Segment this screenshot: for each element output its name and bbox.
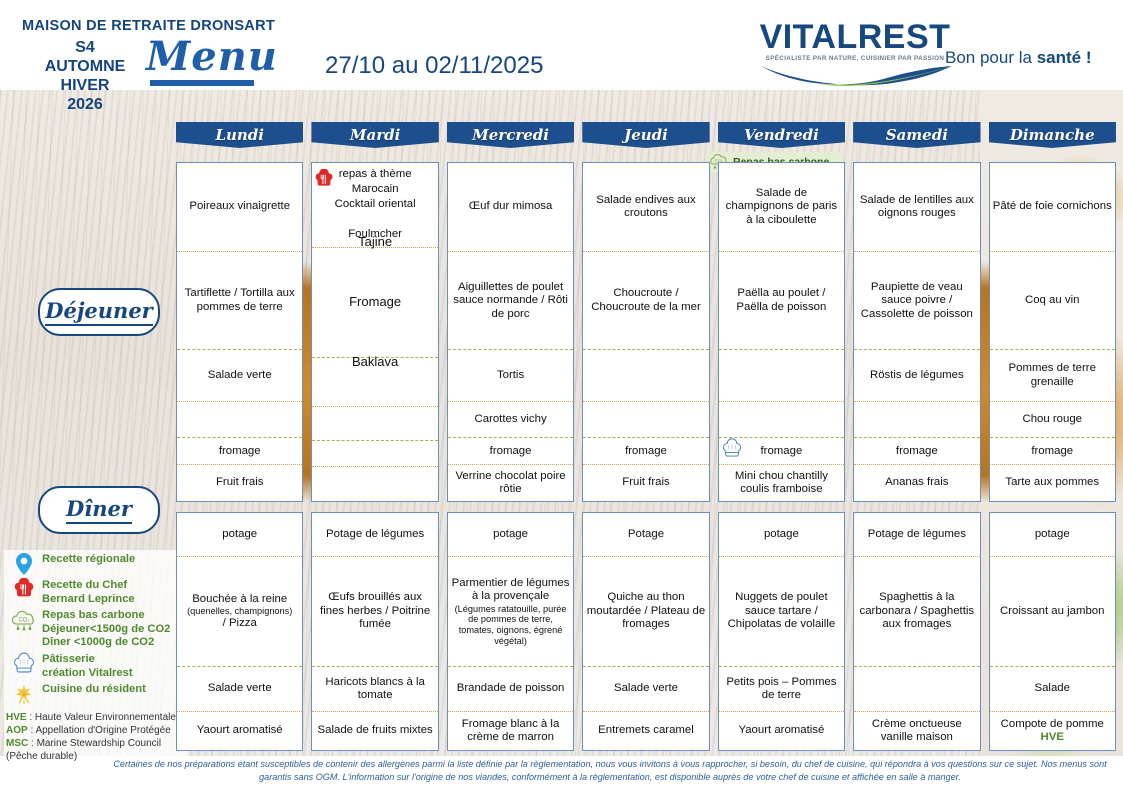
tagline-prefix: Bon pour la <box>945 48 1037 67</box>
menu-cell: Salade verte <box>177 667 302 712</box>
menu-cell: fromage <box>177 438 302 465</box>
chef-toque-red-icon <box>314 169 334 189</box>
menu-column-samedi: Potage de légumesSpaghettis à la carbona… <box>853 512 980 751</box>
menu-cell: Œuf dur mimosa <box>448 163 573 252</box>
chef-toque-red-icon <box>6 578 42 600</box>
season-winter: HIVER <box>20 76 150 95</box>
menu-page: MAISON DE RETRAITE DRONSART S4 AUTOMNE H… <box>0 0 1123 794</box>
chef-toque-red-icon <box>13 578 35 600</box>
menu-cell: Poireaux vinaigrette <box>177 163 302 252</box>
menu-cell: Verrine chocolat poire rôtie <box>448 465 573 501</box>
menu-cell: fromage <box>448 438 573 465</box>
menu-cell <box>854 402 979 438</box>
menu-cell <box>854 667 979 712</box>
sparkler-icon <box>12 682 36 706</box>
legend-item-label: Recette du ChefBernard Leprince <box>42 578 135 606</box>
dinner-block: potageBouchée à la reine(quenelles, cham… <box>176 512 1116 751</box>
menu-cell: Coq au vin <box>990 252 1115 350</box>
menu-column-mercredi: Œuf dur mimosaAiguillettes de poulet sau… <box>447 162 574 502</box>
menu-cell: potage <box>719 513 844 557</box>
menu-cell: Salade verte <box>177 350 302 402</box>
menu-cell: fromage <box>854 438 979 465</box>
menu-cell: Parmentier de légumes à la provençale(Lé… <box>448 557 573 667</box>
abbreviation-code: MSC <box>6 738 28 749</box>
menu-cell: Paëlla au poulet / Paëlla de poisson <box>719 252 844 350</box>
menu-cell: Tortis <box>448 350 573 402</box>
menu-cell: Tajine Fromage Baklava <box>312 248 437 358</box>
menu-cell: Tartiflette / Tortilla aux pommes de ter… <box>177 252 302 350</box>
location-pin-icon <box>6 552 42 576</box>
date-range: 27/10 au 02/11/2025 <box>325 52 543 80</box>
pastry-chef-hat-icon <box>721 438 743 464</box>
menu-column-lundi: Poireaux vinaigretteTartiflette / Tortil… <box>176 162 303 502</box>
menu-cell: Salade de champignons de paris à la cibo… <box>719 163 844 252</box>
menu-cell: Salade de fruits mixtes <box>312 712 437 750</box>
menu-cell <box>312 467 437 501</box>
tagline-strong: santé ! <box>1037 48 1092 67</box>
menu-cell: Brandade de poisson <box>448 667 573 712</box>
menu-cell: Quiche au thon moutardée / Plateau de fr… <box>583 557 708 667</box>
menu-cell: Carottes vichy <box>448 402 573 438</box>
menu-cell <box>312 358 437 407</box>
menu-cell: Crème onctueuse vanille maison <box>854 712 979 750</box>
pastry-chef-hat-icon <box>6 652 42 676</box>
pastry-chef-hat-icon <box>721 438 743 460</box>
menu-column-vendredi: Salade de champignons de paris à la cibo… <box>718 162 845 502</box>
vitalrest-logo: VITALREST SPÉCIALISTE PAR NATURE, CUISIN… <box>755 20 955 80</box>
menu-title-underline <box>150 80 254 86</box>
menu-cell: Fromage blanc à la crème de marron <box>448 712 573 750</box>
logo-wordmark: VITALREST <box>755 20 955 54</box>
menu-cell <box>312 441 437 467</box>
menu-cell: Pâté de foie cornichons <box>990 163 1115 252</box>
menu-column-lundi: potageBouchée à la reine(quenelles, cham… <box>176 512 303 751</box>
lunch-label-pill: Déjeuner <box>38 288 160 336</box>
location-pin-icon <box>14 552 34 576</box>
day-header-mardi[interactable]: Mardi <box>311 122 438 148</box>
menu-cell <box>583 350 708 402</box>
allergen-footer: Certaines de nos préparations étant susc… <box>100 758 1120 784</box>
legend-abbreviations: HVE : Haute Valeur EnvironnementaleAOP :… <box>6 711 186 763</box>
menu-cell: Entremets caramel <box>583 712 708 750</box>
menu-column-mercredi: potageParmentier de légumes à la provenç… <box>447 512 574 751</box>
menu-column-dimanche: Pâté de foie cornichonsCoq au vinPommes … <box>989 162 1116 502</box>
menu-cell: Paupiette de veau sauce poivre / Cassole… <box>854 252 979 350</box>
chef-toque-red-icon <box>314 169 334 193</box>
menu-cell: Potage de légumes <box>854 513 979 557</box>
menu-column-dimanche: potageCroissant au jambonSaladeCompote d… <box>989 512 1116 751</box>
legend-item-label: Cuisine du résident <box>42 682 146 697</box>
lunch-block: Poireaux vinaigretteTartiflette / Tortil… <box>176 162 1116 502</box>
menu-cell: Œufs brouillés aux fines herbes / Poitri… <box>312 557 437 667</box>
legend-item: Pâtisseriecréation Vitalrest <box>6 652 186 680</box>
menu-cell: potage <box>448 513 573 557</box>
menu-column-mardi: Potage de légumesŒufs brouillés aux fine… <box>311 512 438 751</box>
season-label: S4 AUTOMNE HIVER 2026 <box>20 38 150 114</box>
menu-cell: Chou rouge <box>990 402 1115 438</box>
menu-cell: Aiguillettes de poulet sauce normande / … <box>448 252 573 350</box>
menu-cell: Fruit frais <box>583 465 708 501</box>
menu-cell <box>312 407 437 441</box>
menu-title: Menu <box>146 33 278 80</box>
dinner-label-pill: Dîner <box>38 486 160 534</box>
menu-cell: Choucroute / Choucroute de la mer <box>583 252 708 350</box>
menu-cell: Nuggets de poulet sauce tartare / Chipol… <box>719 557 844 667</box>
menu-column-samedi: Salade de lentilles aux oignons rougesPa… <box>853 162 980 502</box>
menu-cell <box>719 350 844 402</box>
menu-cell: Ananas frais <box>854 465 979 501</box>
day-header-lundi[interactable]: Lundi <box>176 122 303 148</box>
page-header: MAISON DE RETRAITE DRONSART S4 AUTOMNE H… <box>0 0 1123 90</box>
season-week: S4 <box>20 38 150 57</box>
abbreviation-meaning: : Haute Valeur Environnementale <box>27 712 176 723</box>
menu-cell: Mini chou chantilly coulis framboise <box>719 465 844 501</box>
legend-abbreviation: HVE : Haute Valeur Environnementale <box>6 711 186 724</box>
menu-column-jeudi: PotageQuiche au thon moutardée / Plateau… <box>582 512 709 751</box>
svg-text:CO₂: CO₂ <box>18 618 30 624</box>
menu-cell <box>719 402 844 438</box>
menu-cell <box>583 402 708 438</box>
abbreviation-meaning: : Appellation d'Origine Protégée <box>28 725 171 736</box>
menu-cell: Yaourt aromatisé <box>177 712 302 750</box>
co2-cloud-icon: CO₂ <box>9 608 39 634</box>
menu-cell: Salade endives aux croutons <box>583 163 708 252</box>
legend-item: Cuisine du résident <box>6 682 186 706</box>
menu-cell: Croissant au jambon <box>990 557 1115 667</box>
menu-cell: Yaourt aromatisé <box>719 712 844 750</box>
abbreviation-code: HVE <box>6 712 27 723</box>
pastry-chef-hat-icon <box>12 652 36 676</box>
menu-cell: Potage <box>583 513 708 557</box>
menu-cell: Petits pois – Pommes de terre <box>719 667 844 712</box>
menu-column-vendredi: potageNuggets de poulet sauce tartare / … <box>718 512 845 751</box>
menu-cell: Salade de lentilles aux oignons rouges <box>854 163 979 252</box>
legend-abbreviation: AOP : Appellation d'Origine Protégée <box>6 724 186 737</box>
legend-item: CO₂ Repas bas carboneDéjeuner<1500g de C… <box>6 608 186 650</box>
day-header-dimanche[interactable]: Dimanche <box>989 122 1116 148</box>
menu-cell: fromage <box>583 438 708 465</box>
menu-cell: Bouchée à la reine(quenelles, champignon… <box>177 557 302 667</box>
menu-cell: fromage <box>719 438 844 465</box>
menu-column-mardi: repas à thèmeMarocainCocktail oriental F… <box>311 162 438 502</box>
legend-item: Recette régionale <box>6 552 186 576</box>
menu-cell: Compote de pommeHVE <box>990 712 1115 750</box>
legend-item-label: Repas bas carboneDéjeuner<1500g de CO2Dî… <box>42 608 170 650</box>
menu-cell <box>177 402 302 438</box>
legend-panel: Recette régionale Recette du ChefBernard… <box>4 550 188 767</box>
facility-name: MAISON DE RETRAITE DRONSART <box>22 18 275 34</box>
legend-item-label: Recette régionale <box>42 552 135 567</box>
sparkler-icon <box>6 682 42 706</box>
day-header-jeudi[interactable]: Jeudi <box>582 122 709 148</box>
legend-item-label: Pâtisseriecréation Vitalrest <box>42 652 133 680</box>
menu-cell: Pommes de terre grenaille <box>990 350 1115 402</box>
day-headers-row: LundiMardiMercrediJeudiVendrediSamediDim… <box>176 122 1116 148</box>
day-header-samedi[interactable]: Samedi <box>853 122 980 148</box>
day-header-mercredi[interactable]: Mercredi <box>447 122 574 148</box>
menu-cell: fromage <box>990 438 1115 465</box>
menu-cell: Fruit frais <box>177 465 302 501</box>
menu-cell: potage <box>990 513 1115 557</box>
menu-cell: Potage de légumes <box>312 513 437 557</box>
logo-swoosh-icon <box>759 64 954 86</box>
menu-cell: Salade verte <box>583 667 708 712</box>
logo-tagline: SPÉCIALISTE PAR NATURE, CUISINIER PAR PA… <box>755 55 955 62</box>
menu-cell: Haricots blancs à la tomate <box>312 667 437 712</box>
day-header-vendredi[interactable]: Vendredi <box>718 122 845 148</box>
menu-cell: Salade <box>990 667 1115 712</box>
menu-cell: Spaghettis à la carbonara / Spaghettis a… <box>854 557 979 667</box>
legend-item: Recette du ChefBernard Leprince <box>6 578 186 606</box>
menu-cell: Tarte aux pommes <box>990 465 1115 501</box>
brand-tagline-right: Bon pour la santé ! <box>945 48 1091 68</box>
abbreviation-code: AOP <box>6 725 28 736</box>
menu-cell: Röstis de légumes <box>854 350 979 402</box>
menu-cell: potage <box>177 513 302 557</box>
menu-grid: LundiMardiMercrediJeudiVendrediSamediDim… <box>176 122 1116 751</box>
co2-cloud-icon: CO₂ <box>6 608 42 634</box>
season-autumn: AUTOMNE <box>20 57 150 76</box>
season-year: 2026 <box>20 95 150 114</box>
menu-column-jeudi: Salade endives aux croutonsChoucroute / … <box>582 162 709 502</box>
